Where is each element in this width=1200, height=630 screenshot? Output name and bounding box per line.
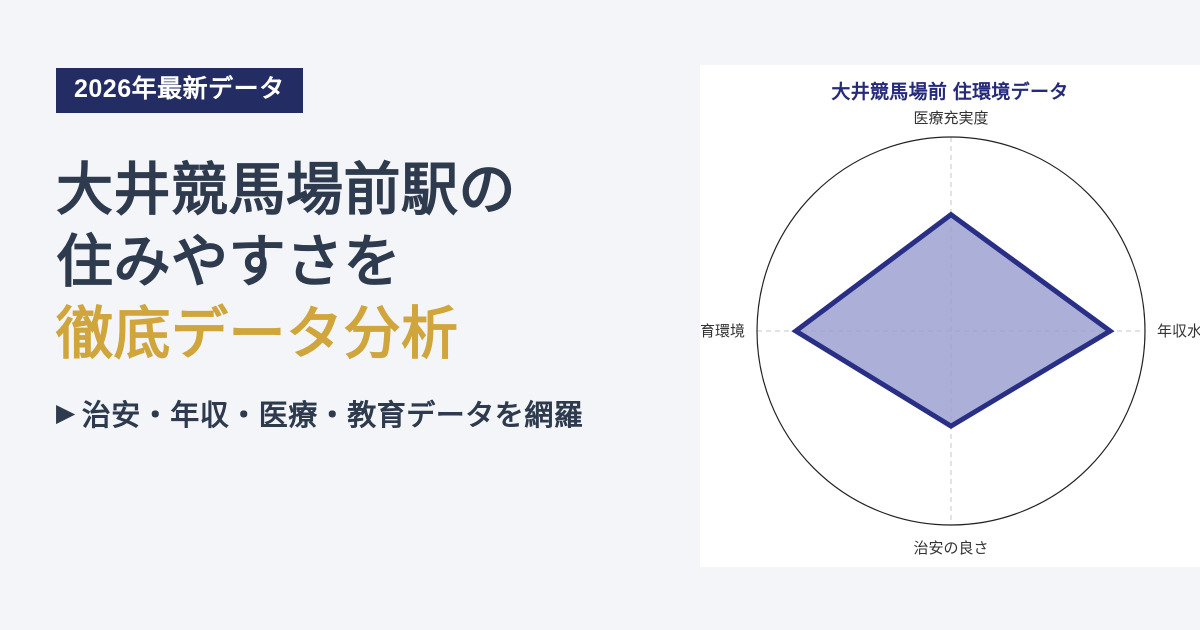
- axis-label-right: 年収水準: [1157, 323, 1200, 340]
- headline-line-3-accent: 徹底データ分析: [56, 299, 700, 371]
- triangle-marker-icon: ▶: [56, 401, 76, 426]
- radar-chart-panel: 大井競馬場前 住環境データ 医療充実度 年収水準 治安の良さ 教育環境: [700, 65, 1200, 567]
- subtitle: ▶ 治安・年収・医療・教育データを網羅: [56, 392, 700, 434]
- headline-line-2: 住みやすさを: [56, 227, 700, 299]
- subtitle-text: 治安・年収・医療・教育データを網羅: [82, 392, 584, 434]
- radar-data-polygon: [796, 215, 1110, 427]
- axis-label-left: 教育環境: [700, 322, 745, 340]
- axis-label-bottom: 治安の良さ: [913, 540, 988, 557]
- latest-data-badge: 2026年最新データ: [56, 68, 303, 113]
- hero-left-column: 2026年最新データ 大井競馬場前駅の 住みやすさを 徹底データ分析 ▶ 治安・…: [0, 0, 700, 630]
- page-title: 大井競馬場前駅の 住みやすさを 徹底データ分析: [56, 155, 700, 370]
- radar-chart-svg: 医療充実度 年収水準 治安の良さ 教育環境: [700, 65, 1200, 567]
- headline-line-1: 大井競馬場前駅の: [56, 155, 700, 227]
- axis-label-top: 医療充実度: [913, 110, 988, 127]
